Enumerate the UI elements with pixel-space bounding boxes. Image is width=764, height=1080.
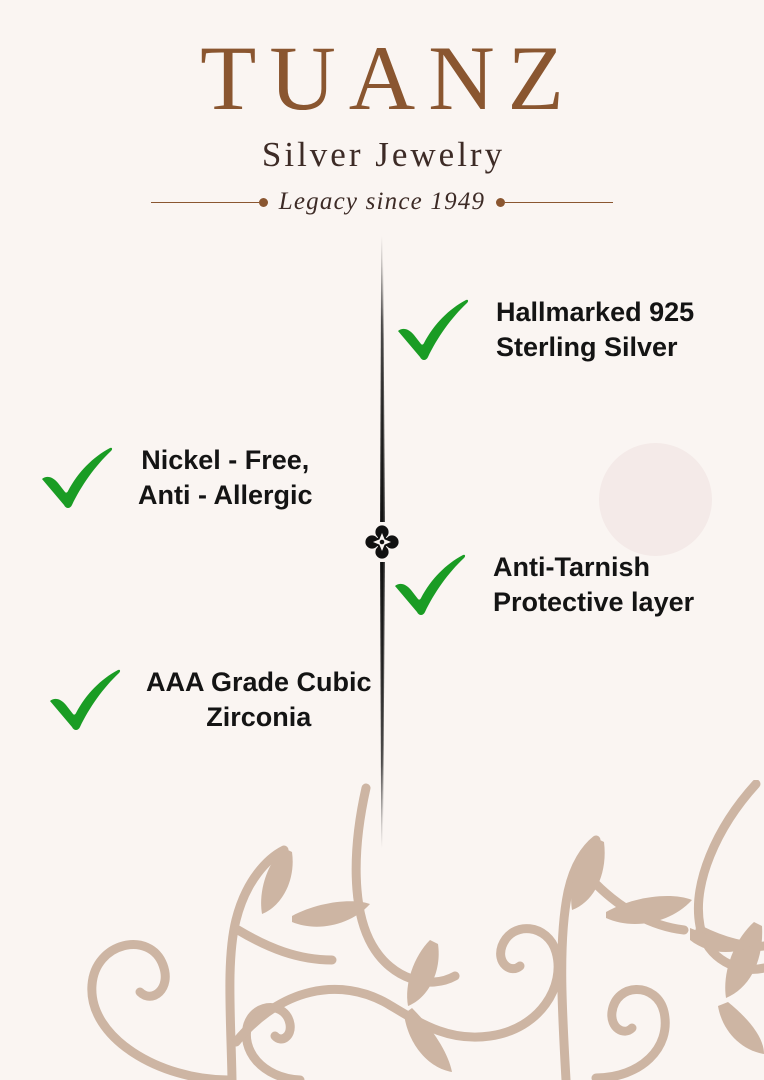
brand-header: TUANZ Silver Jewelry Legacy since 1949 [0, 0, 764, 216]
checkmark-icon [396, 299, 474, 361]
feature-label: Nickel - Free, Anti - Allergic [138, 443, 313, 513]
checkmark-icon [48, 669, 126, 731]
tagline-row: Legacy since 1949 [0, 174, 764, 216]
blush-circle-decoration [599, 443, 712, 556]
poster-canvas: TUANZ Silver Jewelry Legacy since 1949 [0, 0, 764, 1080]
feature-item: AAA Grade Cubic Zirconia [48, 665, 372, 735]
tagline-text: Legacy since 1949 [268, 188, 496, 216]
feature-label: AAA Grade Cubic Zirconia [146, 665, 372, 735]
brand-name: TUANZ [0, 0, 764, 126]
tagline-rule-left [151, 202, 259, 203]
divider-lower-rule [380, 562, 385, 848]
feature-item: Hallmarked 925 Sterling Silver [396, 295, 694, 365]
feature-label: Anti-Tarnish Protective layer [493, 550, 694, 620]
feature-item: Anti-Tarnish Protective layer [393, 550, 694, 620]
feature-item: Nickel - Free, Anti - Allergic [40, 443, 313, 513]
brand-subtitle: Silver Jewelry [0, 126, 764, 175]
divider-upper-rule [380, 236, 385, 522]
checkmark-icon [40, 447, 118, 509]
feature-label: Hallmarked 925 Sterling Silver [496, 295, 694, 365]
tagline-rule-right [505, 202, 613, 203]
tagline-dot-right [496, 198, 505, 207]
tagline-dot-left [259, 198, 268, 207]
checkmark-icon [393, 554, 471, 616]
